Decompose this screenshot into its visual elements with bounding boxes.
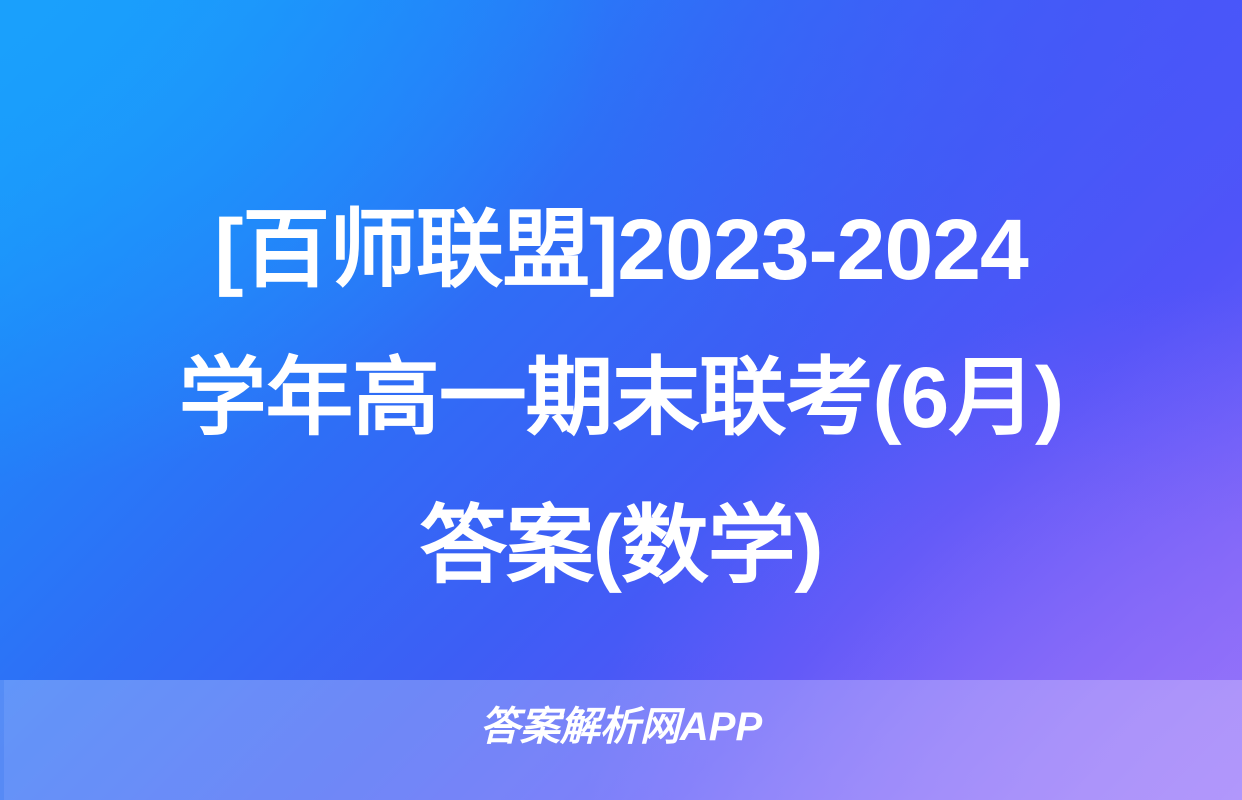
app-name-watermark: 答案解析网APP	[0, 702, 1242, 752]
title-block: [百师联盟]2023-2024 学年高一期末联考(6月) 答案(数学)	[0, 176, 1242, 620]
title-line-2: 学年高一期末联考(6月)	[35, 324, 1208, 472]
title-line-3: 答案(数学)	[35, 472, 1208, 620]
promo-card: [百师联盟]2023-2024 学年高一期末联考(6月) 答案(数学) 答案解析…	[0, 0, 1242, 800]
title-line-1: [百师联盟]2023-2024	[35, 176, 1208, 324]
